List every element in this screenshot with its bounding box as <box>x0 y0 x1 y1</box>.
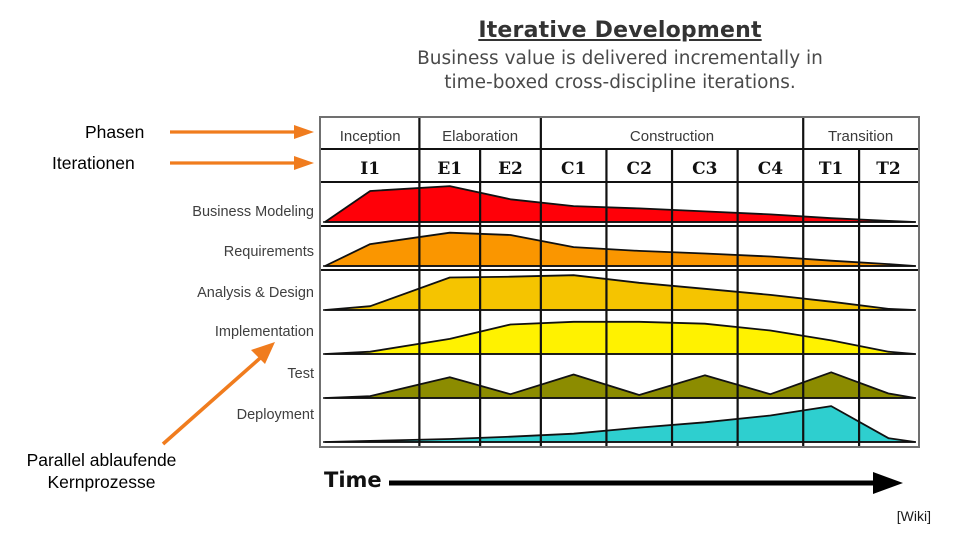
phase-header-elaboration[interactable]: Elaboration <box>419 127 540 147</box>
series-area-test <box>325 372 915 398</box>
source-credit: [Wiki] <box>897 508 931 524</box>
phase-header-construction[interactable]: Construction <box>541 127 803 147</box>
subtitle-line-1: Business value is delivered incrementall… <box>310 47 930 71</box>
discipline-label-column: Business Modeling Requirements Analysis … <box>100 116 314 448</box>
series-area-implementation <box>325 322 915 354</box>
discipline-label-deployment: Deployment <box>237 406 314 424</box>
iteration-header-c4[interactable]: C4 <box>738 158 804 180</box>
discipline-label-implementation: Implementation <box>215 323 314 341</box>
page-subtitle: Business value is delivered incrementall… <box>310 47 930 94</box>
page-title: Iterative Development <box>310 18 930 43</box>
discipline-label-test: Test <box>287 365 314 383</box>
iteration-header-t2[interactable]: T2 <box>859 158 918 180</box>
iteration-header-t1[interactable]: T1 <box>803 158 859 180</box>
time-axis: Time <box>319 462 920 504</box>
iteration-header-i1[interactable]: I1 <box>321 158 419 180</box>
annotation-parallel-processes-label: Parallel ablaufende Kernprozesse <box>4 449 199 494</box>
series-area-business-modeling <box>325 186 915 222</box>
title-block: Iterative Development Business value is … <box>310 18 930 95</box>
iteration-header-c1[interactable]: C1 <box>541 158 607 180</box>
iteration-header-e2[interactable]: E2 <box>480 158 541 180</box>
annotation-parallel-line-2: Kernprozesse <box>4 471 199 493</box>
subtitle-line-2: time-boxed cross-discipline iterations. <box>310 71 930 95</box>
series-area-deployment <box>325 406 915 442</box>
discipline-label-analysis-design: Analysis & Design <box>197 284 314 302</box>
iteration-header-e1[interactable]: E1 <box>419 158 480 180</box>
iterative-development-chart: InceptionElaborationConstructionTransiti… <box>319 116 920 448</box>
phase-header-inception[interactable]: Inception <box>321 127 419 147</box>
series-areas-group <box>323 186 916 442</box>
discipline-label-business-modeling: Business Modeling <box>192 203 314 221</box>
discipline-label-requirements: Requirements <box>224 243 314 261</box>
iteration-header-c2[interactable]: C2 <box>606 158 672 180</box>
series-area-analysis-design <box>325 275 915 310</box>
phase-header-transition[interactable]: Transition <box>803 127 918 147</box>
series-area-requirements <box>325 233 915 266</box>
time-axis-label: Time <box>324 468 382 492</box>
iteration-header-c3[interactable]: C3 <box>672 158 738 180</box>
annotation-parallel-line-1: Parallel ablaufende <box>4 449 199 471</box>
time-axis-arrow-icon <box>387 470 907 496</box>
